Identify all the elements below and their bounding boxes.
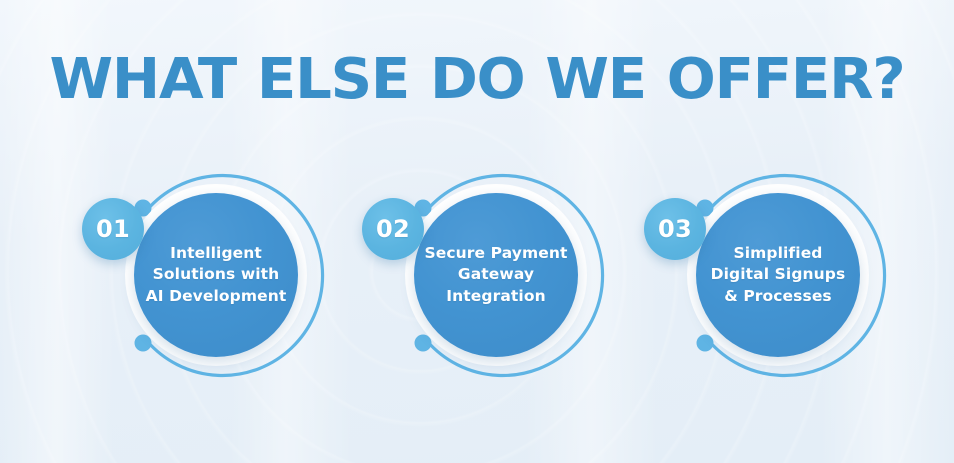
page-title: WHAT ELSE DO WE OFFER?: [0, 52, 954, 108]
offer-item-1[interactable]: Intelligent Solutions with AI Developmen…: [76, 168, 326, 383]
offer-disc-2[interactable]: Secure Payment Gateway Integration: [414, 193, 578, 357]
offer-disc-3[interactable]: Simplified Digital Signups & Processes: [696, 193, 860, 357]
offer-label-2: Secure Payment Gateway Integration: [415, 243, 578, 307]
offer-number-badge-1: 01: [82, 198, 144, 260]
offer-label-3: Simplified Digital Signups & Processes: [701, 243, 856, 307]
offer-number-3: 03: [658, 215, 692, 243]
offer-item-2[interactable]: Secure Payment Gateway Integration 02: [356, 168, 606, 383]
offer-disc-1[interactable]: Intelligent Solutions with AI Developmen…: [134, 193, 298, 357]
offer-infographic-poster: WHAT ELSE DO WE OFFER? Intelligent Solut…: [0, 0, 954, 463]
offer-number-badge-3: 03: [644, 198, 706, 260]
offer-number-2: 02: [376, 215, 410, 243]
offer-number-1: 01: [96, 215, 130, 243]
offer-item-3[interactable]: Simplified Digital Signups & Processes 0…: [638, 168, 888, 383]
offer-number-badge-2: 02: [362, 198, 424, 260]
page-title-text: WHAT ELSE DO WE OFFER?: [50, 52, 905, 108]
offer-label-1: Intelligent Solutions with AI Developmen…: [136, 243, 297, 307]
